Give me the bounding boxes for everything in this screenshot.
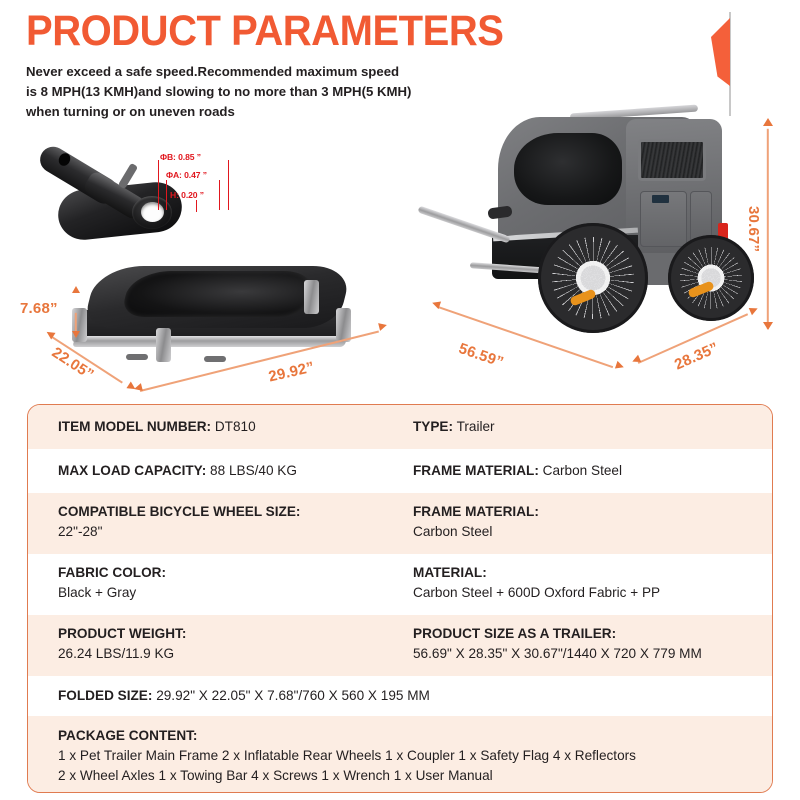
trailer-wheel-rear-spokes xyxy=(680,247,742,309)
table-row: PRODUCT WEIGHT: 26.24 LBS/11.9 KG PRODUC… xyxy=(28,615,772,676)
folded-mesh-panel xyxy=(120,271,317,317)
folded-foot-right xyxy=(204,356,226,362)
spec-key: COMPATIBLE BICYCLE WHEEL SIZE: xyxy=(58,502,413,522)
package-content-line-2: 2 x Wheel Axles 1 x Towing Bar 4 x Screw… xyxy=(58,766,772,786)
spec-cell-type: TYPE: Trailer xyxy=(413,417,772,437)
spec-cell-fabric-color: FABRIC COLOR: Black + Gray xyxy=(28,563,413,615)
spec-key: FOLDED SIZE: xyxy=(58,688,152,703)
spec-key: ITEM MODEL NUMBER: xyxy=(58,419,211,434)
specifications-table: ITEM MODEL NUMBER: DT810 TYPE: Trailer M… xyxy=(27,404,773,793)
trailer-height-arrow-down xyxy=(763,322,773,330)
table-row: COMPATIBLE BICYCLE WHEEL SIZE: 22"-28" F… xyxy=(28,493,772,554)
safety-flag-icon xyxy=(711,18,730,86)
coupler-dimension-phi-a: ΦA: 0.47 ” xyxy=(166,170,207,180)
folded-width-arrow-end xyxy=(378,321,388,331)
table-row: FABRIC COLOR: Black + Gray MATERIAL: Car… xyxy=(28,554,772,615)
spec-value: Carbon Steel xyxy=(413,522,772,542)
trailer-rear-mesh-window xyxy=(638,139,706,181)
spec-value: Carbon Steel + 600D Oxford Fabric + PP xyxy=(413,583,772,603)
folded-dimension-height: 7.68” xyxy=(20,300,58,317)
table-row: ITEM MODEL NUMBER: DT810 TYPE: Trailer xyxy=(28,405,772,449)
spec-key: TYPE: xyxy=(413,419,453,434)
spec-cell-max-load-capacity: MAX LOAD CAPACITY: 88 LBS/40 KG xyxy=(28,461,413,481)
spec-value: 22"-28" xyxy=(58,522,413,542)
trailer-dimension-height: 30.67” xyxy=(745,206,762,252)
coupler-dim-line-a-left xyxy=(166,180,167,210)
spec-key: PRODUCT SIZE AS A TRAILER: xyxy=(413,624,772,644)
coupler-dimension-h: H: 0.20 ” xyxy=(170,190,204,200)
folded-bracket-right-top xyxy=(304,280,319,314)
spec-key: FABRIC COLOR: xyxy=(58,563,413,583)
coupler-ring-hole xyxy=(141,202,164,222)
spec-key: MATERIAL: xyxy=(413,563,772,583)
spec-cell-package-content: PACKAGE CONTENT: 1 x Pet Trailer Main Fr… xyxy=(28,726,772,792)
table-row: MAX LOAD CAPACITY: 88 LBS/40 KG FRAME MA… xyxy=(28,449,772,493)
spec-key: FRAME MATERIAL: xyxy=(413,463,539,478)
spec-key: MAX LOAD CAPACITY: xyxy=(58,463,206,478)
trailer-height-arrow-up xyxy=(763,118,773,126)
spec-key: FRAME MATERIAL: xyxy=(413,502,772,522)
coupler-dimension-phi-b: ΦB: 0.85 ” xyxy=(160,152,201,162)
folded-height-arrow-up xyxy=(72,286,80,293)
folded-width-arrow-start xyxy=(133,383,143,393)
coupler-dim-line-a-right xyxy=(219,180,220,210)
coupler-dim-line-h xyxy=(196,200,197,212)
spec-cell-frame-material: FRAME MATERIAL: Carbon Steel xyxy=(413,461,772,481)
spec-key: PACKAGE CONTENT: xyxy=(58,726,772,746)
folded-bracket-mid-left xyxy=(156,328,171,362)
spec-cell-frame-material-2: FRAME MATERIAL: Carbon Steel xyxy=(413,502,772,554)
folded-foot-left xyxy=(126,354,148,360)
spec-value: 88 LBS/40 KG xyxy=(210,463,297,478)
spec-value: 56.69" X 28.35" X 30.67"/1440 X 720 X 77… xyxy=(413,644,772,664)
trailer-height-line xyxy=(767,129,769,329)
spec-cell-product-size-as-trailer: PRODUCT SIZE AS A TRAILER: 56.69" X 28.3… xyxy=(413,624,772,676)
coupler-dim-line-b-right xyxy=(228,160,229,210)
spec-cell-product-weight: PRODUCT WEIGHT: 26.24 LBS/11.9 KG xyxy=(28,624,413,676)
trailer-length-arrow-end xyxy=(615,361,625,371)
trailer-brand-logo xyxy=(652,195,669,203)
spec-value: 29.92" X 22.05" X 7.68"/760 X 560 X 195 … xyxy=(156,688,430,703)
spec-value: DT810 xyxy=(215,419,256,434)
spec-key: PRODUCT WEIGHT: xyxy=(58,624,413,644)
table-row: PACKAGE CONTENT: 1 x Pet Trailer Main Fr… xyxy=(28,716,772,792)
folded-frame-rail xyxy=(72,336,348,347)
trailer-side-mesh-window xyxy=(514,133,622,205)
spec-value: Carbon Steel xyxy=(543,463,622,478)
trailer-wheel-front-spokes xyxy=(552,237,634,319)
product-illustration: ΦB: 0.85 ” ΦA: 0.47 ” H: 0.20 ” 7.68” 22… xyxy=(0,0,800,400)
spec-value: 26.24 LBS/11.9 KG xyxy=(58,644,413,664)
spec-cell-item-model-number: ITEM MODEL NUMBER: DT810 xyxy=(28,417,413,437)
spec-value: Trailer xyxy=(457,419,495,434)
spec-cell-material: MATERIAL: Carbon Steel + 600D Oxford Fab… xyxy=(413,563,772,615)
folded-product-illustration xyxy=(48,266,378,376)
spec-cell-folded-size: FOLDED SIZE: 29.92" X 22.05" X 7.68"/760… xyxy=(28,686,772,706)
spec-cell-compatible-wheel-size: COMPATIBLE BICYCLE WHEEL SIZE: 22"-28" xyxy=(28,502,413,554)
package-content-line-1: 1 x Pet Trailer Main Frame 2 x Inflatabl… xyxy=(58,746,772,766)
table-row: FOLDED SIZE: 29.92" X 22.05" X 7.68"/760… xyxy=(28,676,772,716)
folded-height-arrow-down xyxy=(72,331,80,338)
coupler-dim-line-b-left xyxy=(158,160,159,210)
spec-value: Black + Gray xyxy=(58,583,413,603)
